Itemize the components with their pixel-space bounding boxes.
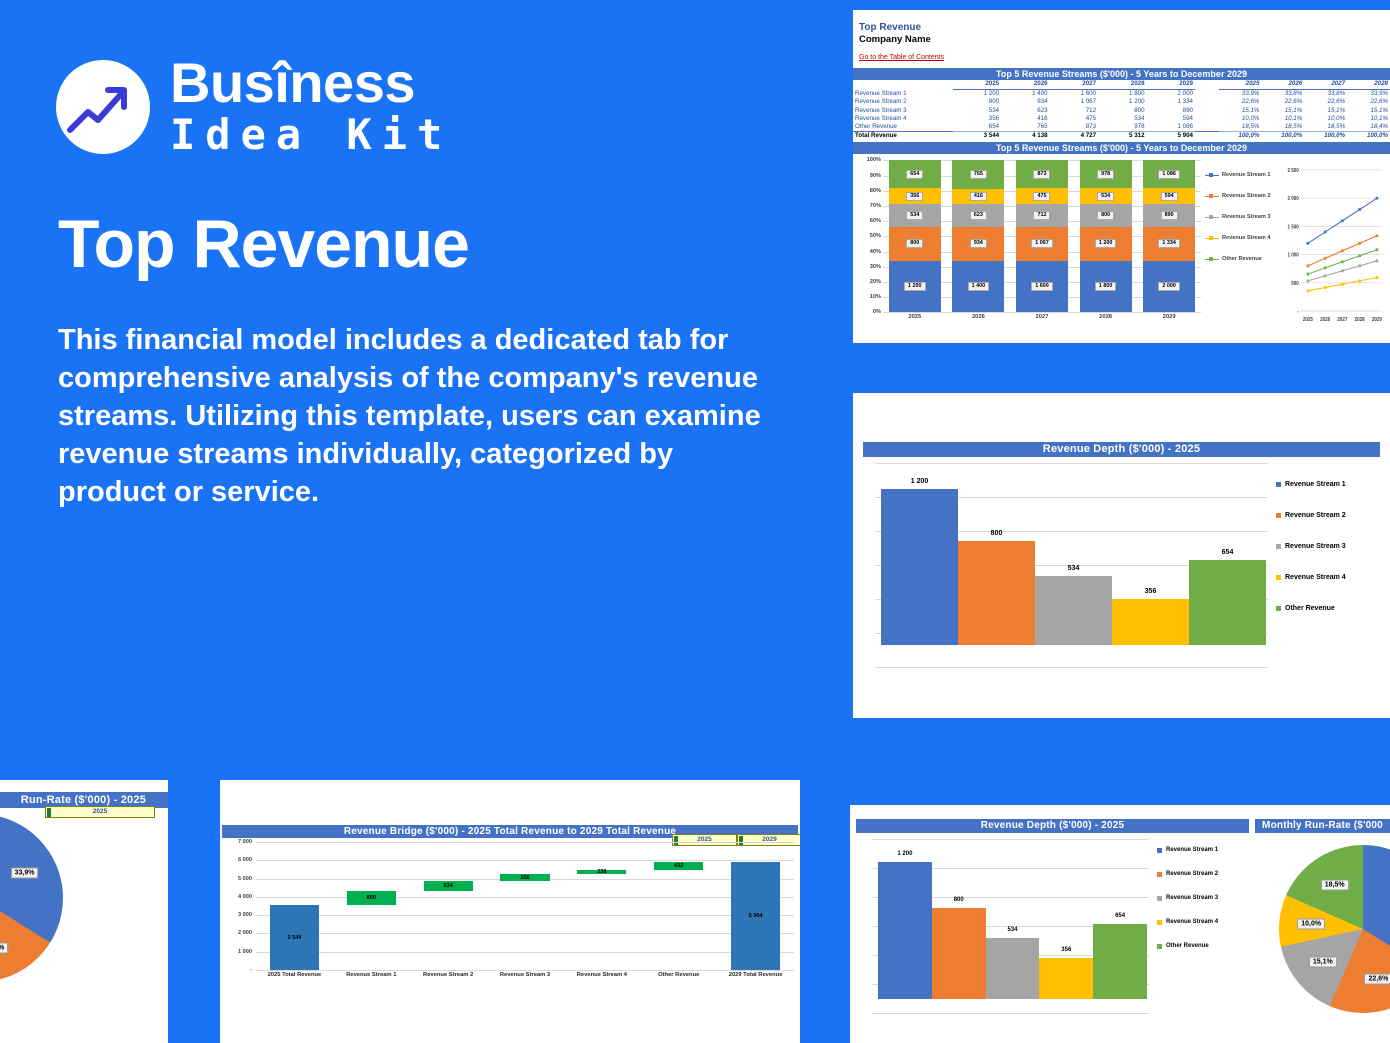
- bar-data-label: 534: [1097, 192, 1114, 201]
- waterfall-bar: 356: [500, 874, 549, 881]
- chart-band-title: Top 5 Revenue Streams ($'000) - 5 Years …: [853, 142, 1390, 154]
- legend-item: Revenue Stream 3: [1276, 543, 1384, 550]
- bar-data-label: 800: [958, 530, 1035, 537]
- bar-data-label: 978: [1097, 170, 1114, 179]
- worksheet-panel: Top Revenue Company Name Go to the Table…: [853, 10, 1390, 343]
- bar-data-label: 5 904: [749, 913, 763, 919]
- table-total-row: Total Revenue 3 544 4 138 4 727 5 312 5 …: [853, 132, 1390, 141]
- bar-data-label: 654: [1189, 549, 1266, 556]
- x-tick: Revenue Stream 4: [563, 972, 640, 978]
- y-tick: 60%: [870, 218, 881, 224]
- bar: 654: [1189, 560, 1266, 645]
- pct-year-2025: 2025: [1219, 80, 1262, 90]
- waterfall-bar: 5 904: [731, 862, 780, 970]
- legend-item: Revenue Stream 4: [1276, 574, 1384, 581]
- pie-slice-label: 15,1%: [1309, 957, 1337, 968]
- bar-fill: [1112, 599, 1189, 645]
- bar-data-label: 356: [906, 192, 923, 201]
- stacked-bar-segment: 2 000: [1143, 261, 1195, 312]
- col-year-2025: 2025: [953, 80, 1001, 90]
- bar-data-label: 238: [597, 869, 606, 875]
- svg-text:2028: 2028: [1355, 317, 1365, 323]
- legend-swatch: [1157, 872, 1162, 877]
- legend-label: Revenue Stream 2: [1222, 193, 1271, 199]
- bar-fill: [1189, 560, 1266, 645]
- legend-item: Other Revenue: [1157, 943, 1249, 949]
- x-tick: 2029: [1143, 314, 1195, 320]
- brand-logo: Busîness Idea Kit: [56, 55, 452, 159]
- stacked-bar-chart: 100%90%80%70%60%50%40%30%20%10%0% 654356…: [853, 154, 1205, 339]
- year-selector-left[interactable]: 2025: [45, 806, 155, 818]
- waterfall-column: 800: [333, 842, 410, 970]
- bar-data-label: 654: [906, 170, 923, 179]
- x-tick: 2025: [889, 314, 941, 320]
- monthly-runrate-left-panel: Run-Rate ($'000) - 2025 2025 33,9%22,6%1…: [0, 780, 168, 1043]
- bar-fill: [1039, 958, 1093, 999]
- stacked-bar-segment: 712: [1016, 204, 1068, 227]
- y-tick: 70%: [870, 203, 881, 209]
- bar-data-label: 534: [986, 927, 1040, 933]
- waterfall-column: 534: [410, 842, 487, 970]
- revenue-bridge-panel: Revenue Bridge ($'000) - 2025 Total Reve…: [220, 780, 800, 1043]
- bar-data-label: 654: [1093, 913, 1147, 919]
- waterfall-column: 238: [563, 842, 640, 970]
- legend-label: Revenue Stream 4: [1222, 235, 1271, 241]
- bar-data-label: 1 067: [1031, 239, 1053, 248]
- table-row: Revenue Stream 4 356 416 475 534 594 10,…: [853, 115, 1390, 123]
- revenue-depth-panel: Revenue Depth ($'000) - 2025 1 200800534…: [853, 393, 1390, 718]
- legend-swatch: [1157, 944, 1162, 949]
- bar: 534: [1035, 576, 1112, 645]
- col-year-2029: 2029: [1147, 80, 1195, 90]
- legend-label: Revenue Stream 1: [1285, 481, 1346, 488]
- legend-swatch: [1205, 259, 1219, 261]
- legend-swatch: [1205, 175, 1219, 177]
- pie-slice-label: 10,0%: [1297, 918, 1325, 929]
- table-row: Other Revenue 654 765 873 978 1 086 18,5…: [853, 123, 1390, 132]
- legend-swatch: [1276, 513, 1281, 518]
- svg-text:1 000: 1 000: [1287, 253, 1299, 259]
- bar-fill: [881, 489, 958, 645]
- pct-year-2028: 2028: [1347, 80, 1390, 90]
- col-year-2027: 2027: [1050, 80, 1098, 90]
- bar: 654: [1093, 924, 1147, 999]
- bar-data-label: 1 800: [1095, 282, 1117, 291]
- col-year-2026: 2026: [1001, 80, 1049, 90]
- stacked-bar-segment: 623: [952, 204, 1004, 227]
- waterfall-bar: 534: [424, 881, 473, 891]
- bar: 1 200: [878, 862, 932, 999]
- bar-data-label: 890: [1161, 211, 1178, 220]
- charts-row: 100%90%80%70%60%50%40%30%20%10%0% 654356…: [853, 154, 1390, 339]
- y-tick: 80%: [870, 188, 881, 194]
- bar: 356: [1039, 958, 1093, 999]
- runrate-left-pie-chart: [0, 814, 63, 982]
- revenue-streams-table: 2025 2026 2027 2028 2029 2025 2026 2027 …: [853, 80, 1390, 140]
- stacked-bar-segment: 534: [889, 204, 941, 227]
- bar-data-label: 416: [970, 192, 987, 201]
- svg-text:2025: 2025: [1303, 317, 1313, 323]
- legend-label: Other Revenue: [1222, 256, 1262, 262]
- y-tick: 2 000: [238, 930, 252, 936]
- bottom-combo-panel: Revenue Depth ($'000) - 2025 1 200800534…: [850, 805, 1390, 1043]
- bar-data-label: 2 000: [1158, 282, 1180, 291]
- waterfall-bar: 800: [347, 891, 396, 906]
- legend-swatch: [1276, 575, 1281, 580]
- waterfall-bar: 432: [654, 862, 703, 870]
- worksheet-band-title: Top 5 Revenue Streams ($'000) - 5 Years …: [853, 68, 1390, 80]
- bar-data-label: 1 200: [878, 851, 932, 857]
- col-year-2028: 2028: [1098, 80, 1146, 90]
- bar-data-label: 765: [970, 170, 987, 179]
- y-tick: 4 000: [238, 894, 252, 900]
- page-description: This financial model includes a dedicate…: [58, 322, 778, 512]
- legend-item: Revenue Stream 4: [1205, 235, 1277, 241]
- legend-swatch: [1205, 217, 1219, 219]
- x-tick: Revenue Stream 2: [410, 972, 487, 978]
- bar-data-label: 800: [932, 897, 986, 903]
- legend-label: Other Revenue: [1285, 605, 1335, 612]
- y-tick: 10%: [870, 294, 881, 300]
- bar-data-label: 800: [906, 239, 923, 248]
- svg-text:2026: 2026: [1320, 317, 1330, 323]
- legend-label: Revenue Stream 4: [1166, 919, 1218, 925]
- svg-text:1 500: 1 500: [1287, 225, 1299, 231]
- stacked-bar-segment: 594: [1143, 188, 1195, 203]
- bar: 356: [1112, 599, 1189, 645]
- stacked-bar-column: 6543565348001 200: [889, 160, 941, 312]
- x-tick: 2027: [1016, 314, 1068, 320]
- legend-item: Revenue Stream 2: [1276, 512, 1384, 519]
- pie-slice-label: 22,6%: [0, 942, 8, 953]
- pct-year-2027: 2027: [1304, 80, 1347, 90]
- bar-data-label: 873: [1033, 170, 1050, 179]
- legend-label: Revenue Stream 4: [1285, 574, 1346, 581]
- legend-label: Revenue Stream 2: [1285, 512, 1346, 519]
- bar-data-label: 1 200: [1095, 239, 1117, 248]
- bar-data-label: 934: [970, 239, 987, 248]
- waterfall-column: 356: [487, 842, 564, 970]
- stacked-bar-segment: 1 800: [1080, 261, 1132, 313]
- worksheet-company-name: Company Name: [859, 34, 1390, 46]
- svg-text:2 000: 2 000: [1287, 196, 1299, 202]
- legend-swatch: [1276, 606, 1281, 611]
- table-row: Revenue Stream 1 1 200 1 400 1 600 1 800…: [853, 90, 1390, 99]
- y-tick: 40%: [870, 249, 881, 255]
- x-tick: 2025 Total Revenue: [256, 972, 333, 978]
- stacked-bar-segment: 534: [1080, 188, 1132, 203]
- revenue-depth-plot: 1 200800534356654: [863, 463, 1276, 667]
- legend-swatch: [1157, 848, 1162, 853]
- stacked-bar-column: 8734757121 0671 600: [1016, 160, 1068, 312]
- logo-title-bottom: Idea Kit: [170, 111, 452, 159]
- revenue-depth-body: 1 200800534356654 Revenue Stream 1Revenu…: [853, 457, 1390, 667]
- line-chart: 2 5002 0001 5001 000500-2025202620272028…: [1277, 154, 1390, 339]
- x-tick: 2026: [952, 314, 1004, 320]
- y-tick: 0%: [873, 309, 881, 315]
- waterfall-column: 432: [640, 842, 717, 970]
- table-header-row: 2025 2026 2027 2028 2029 2025 2026 2027 …: [853, 80, 1390, 90]
- y-tick: -: [250, 967, 252, 973]
- y-tick: 3 000: [238, 912, 252, 918]
- waterfall-column: 5 904: [717, 842, 794, 970]
- svg-text:2029: 2029: [1372, 317, 1382, 323]
- revenue-bridge-plot: 7 0006 0005 0004 0003 0002 0001 000- 3 5…: [224, 842, 796, 992]
- stacked-bar-segment: 654: [889, 160, 941, 188]
- legend-item: Revenue Stream 2: [1157, 871, 1249, 877]
- revenue-depth-title: Revenue Depth ($'000) - 2025: [863, 442, 1380, 457]
- runrate-right-pie-chart: [1279, 845, 1390, 1013]
- pie-slice-label: 18,5%: [1321, 880, 1349, 891]
- stacked-chart-y-axis: 100%90%80%70%60%50%40%30%20%10%0%: [855, 160, 881, 312]
- bar-data-label: 356: [520, 875, 529, 881]
- bar-data-label: 475: [1033, 192, 1050, 201]
- stacked-chart-x-axis: 20252026202720282029: [883, 314, 1201, 320]
- legend-label: Revenue Stream 3: [1285, 543, 1346, 550]
- y-tick: 90%: [870, 173, 881, 179]
- bar-data-label: 432: [674, 863, 683, 869]
- bar-fill: [878, 862, 932, 999]
- worksheet-header: Top Revenue Company Name Go to the Table…: [853, 10, 1390, 64]
- legend-swatch: [1276, 482, 1281, 487]
- stacked-bar-column: 1 0865948901 3342 000: [1143, 160, 1195, 312]
- pie-slice-label: 33,9%: [11, 867, 39, 878]
- bar: 534: [986, 938, 1040, 999]
- stacked-bar-segment: 1 600: [1016, 261, 1068, 312]
- stacked-bar-segment: 1 200: [1080, 227, 1132, 261]
- y-tick: 100%: [867, 157, 881, 163]
- legend-swatch: [1157, 896, 1162, 901]
- y-tick: 30%: [870, 264, 881, 270]
- growth-arrow-chart-icon: [56, 60, 150, 154]
- y-tick: 1 000: [238, 949, 252, 955]
- runrate-right-title: Monthly Run-Rate ($'000: [1255, 819, 1390, 833]
- table-of-contents-link[interactable]: Go to the Table of Contents: [859, 54, 944, 61]
- stacked-bar-segment: 800: [889, 227, 941, 261]
- stacked-bar-segment: 800: [1080, 204, 1132, 227]
- line-chart-legend: Revenue Stream 1Revenue Stream 2Revenue …: [1205, 154, 1277, 339]
- pie-slice-label: 22,6%: [1365, 973, 1390, 984]
- bar-data-label: 1 400: [968, 282, 990, 291]
- stacked-bar-column: 7654166239341 400: [952, 160, 1004, 312]
- bar-fill: [1035, 576, 1112, 645]
- x-tick: 2028: [1080, 314, 1132, 320]
- bar-data-label: 3 544: [287, 935, 301, 941]
- y-tick: 20%: [870, 279, 881, 285]
- stacked-bar-segment: 1 086: [1143, 160, 1195, 188]
- y-tick: 7 000: [238, 839, 252, 845]
- legend-label: Revenue Stream 3: [1222, 214, 1271, 220]
- hero-section: Busîness Idea Kit Top Revenue This finan…: [0, 0, 840, 780]
- y-tick: 6 000: [238, 857, 252, 863]
- legend-label: Other Revenue: [1166, 943, 1209, 949]
- stacked-bar-segment: 356: [889, 188, 941, 203]
- stacked-bar-segment: 934: [952, 227, 1004, 261]
- x-tick: Other Revenue: [640, 972, 717, 978]
- bar-data-label: 1 200: [881, 478, 958, 485]
- legend-item: Revenue Stream 1: [1157, 847, 1249, 853]
- bar-data-label: 356: [1039, 947, 1093, 953]
- stacked-bar-segment: 416: [952, 189, 1004, 204]
- bar-fill: [1093, 924, 1147, 999]
- stacked-bar-segment: 1 067: [1016, 227, 1068, 261]
- legend-item: Revenue Stream 3: [1157, 895, 1249, 901]
- stacked-chart-plot: 6543565348001 2007654166239341 400873475…: [883, 160, 1201, 312]
- stacked-bar-segment: 890: [1143, 204, 1195, 227]
- bar-data-label: 1 200: [904, 282, 926, 291]
- legend-label: Revenue Stream 1: [1166, 847, 1218, 853]
- legend-swatch: [1205, 196, 1219, 198]
- y-tick: 5 000: [238, 876, 252, 882]
- worksheet-tab-title: Top Revenue: [859, 22, 1390, 34]
- pct-year-2026: 2026: [1261, 80, 1304, 90]
- svg-text:500: 500: [1291, 281, 1299, 287]
- page-title: Top Revenue: [58, 210, 469, 278]
- stacked-bar-segment: 765: [952, 160, 1004, 188]
- y-tick: 50%: [870, 233, 881, 239]
- revenue-depth-bottom-legend: Revenue Stream 1Revenue Stream 2Revenue …: [1157, 833, 1249, 1013]
- legend-item: Revenue Stream 3: [1205, 214, 1277, 220]
- legend-swatch: [1205, 238, 1219, 240]
- stacked-bar-segment: 1 400: [952, 261, 1004, 312]
- bar-fill: [986, 938, 1040, 999]
- bar-data-label: 800: [1097, 211, 1114, 220]
- stacked-bar-segment: 978: [1080, 160, 1132, 188]
- x-tick: Revenue Stream 1: [333, 972, 410, 978]
- legend-swatch: [1157, 920, 1162, 925]
- waterfall-bar: 238: [577, 870, 626, 874]
- bar-data-label: 1 600: [1031, 282, 1053, 291]
- svg-text:2 500: 2 500: [1287, 168, 1299, 174]
- bar: 1 200: [881, 489, 958, 645]
- legend-label: Revenue Stream 3: [1166, 895, 1218, 901]
- revenue-depth-legend: Revenue Stream 1Revenue Stream 2Revenue …: [1276, 457, 1384, 667]
- legend-item: Revenue Stream 2: [1205, 193, 1277, 199]
- bar-data-label: 356: [1112, 588, 1189, 595]
- bar-data-label: 1 334: [1158, 239, 1180, 248]
- stacked-bar-segment: 873: [1016, 160, 1068, 188]
- legend-label: Revenue Stream 1: [1222, 172, 1271, 178]
- waterfall-bar: 3 544: [270, 905, 319, 970]
- svg-text:-: -: [1297, 310, 1299, 315]
- logo-title-top: Busîness: [170, 55, 452, 111]
- waterfall-column: 3 544: [256, 842, 333, 970]
- bar-data-label: 800: [367, 895, 376, 901]
- bar-fill: [932, 908, 986, 999]
- bar-data-label: 712: [1033, 211, 1050, 220]
- stacked-bar-column: 9785348001 2001 800: [1080, 160, 1132, 312]
- svg-text:2027: 2027: [1337, 317, 1347, 323]
- table-row: Revenue Stream 3 534 623 712 800 890 15,…: [853, 107, 1390, 115]
- stacked-bar-segment: 1 200: [889, 261, 941, 312]
- legend-item: Revenue Stream 1: [1205, 172, 1277, 178]
- legend-item: Other Revenue: [1276, 605, 1384, 612]
- bar: 800: [932, 908, 986, 999]
- revenue-depth-bottom-plot: 1 200800534356654: [860, 839, 1157, 1013]
- x-tick: 2029 Total Revenue: [717, 972, 794, 978]
- table-row: Revenue Stream 2 800 934 1 067 1 200 1 3…: [853, 98, 1390, 106]
- legend-item: Revenue Stream 1: [1276, 481, 1384, 488]
- legend-label: Revenue Stream 2: [1166, 871, 1218, 877]
- bar-fill: [958, 541, 1035, 645]
- bar-data-label: 623: [970, 211, 987, 220]
- legend-swatch: [1276, 544, 1281, 549]
- bar-data-label: 534: [906, 211, 923, 220]
- legend-item: Other Revenue: [1205, 256, 1277, 262]
- legend-item: Revenue Stream 4: [1157, 919, 1249, 925]
- revenue-depth-bottom-title: Revenue Depth ($'000) - 2025: [856, 819, 1249, 833]
- stacked-bar-segment: 475: [1016, 188, 1068, 203]
- bar-data-label: 594: [1161, 192, 1178, 201]
- bar: 800: [958, 541, 1035, 645]
- stacked-bar-segment: 1 334: [1143, 227, 1195, 261]
- bar-data-label: 534: [443, 883, 452, 889]
- x-tick: Revenue Stream 3: [487, 972, 564, 978]
- bar-data-label: 534: [1035, 565, 1112, 572]
- bar-data-label: 1 086: [1158, 170, 1180, 179]
